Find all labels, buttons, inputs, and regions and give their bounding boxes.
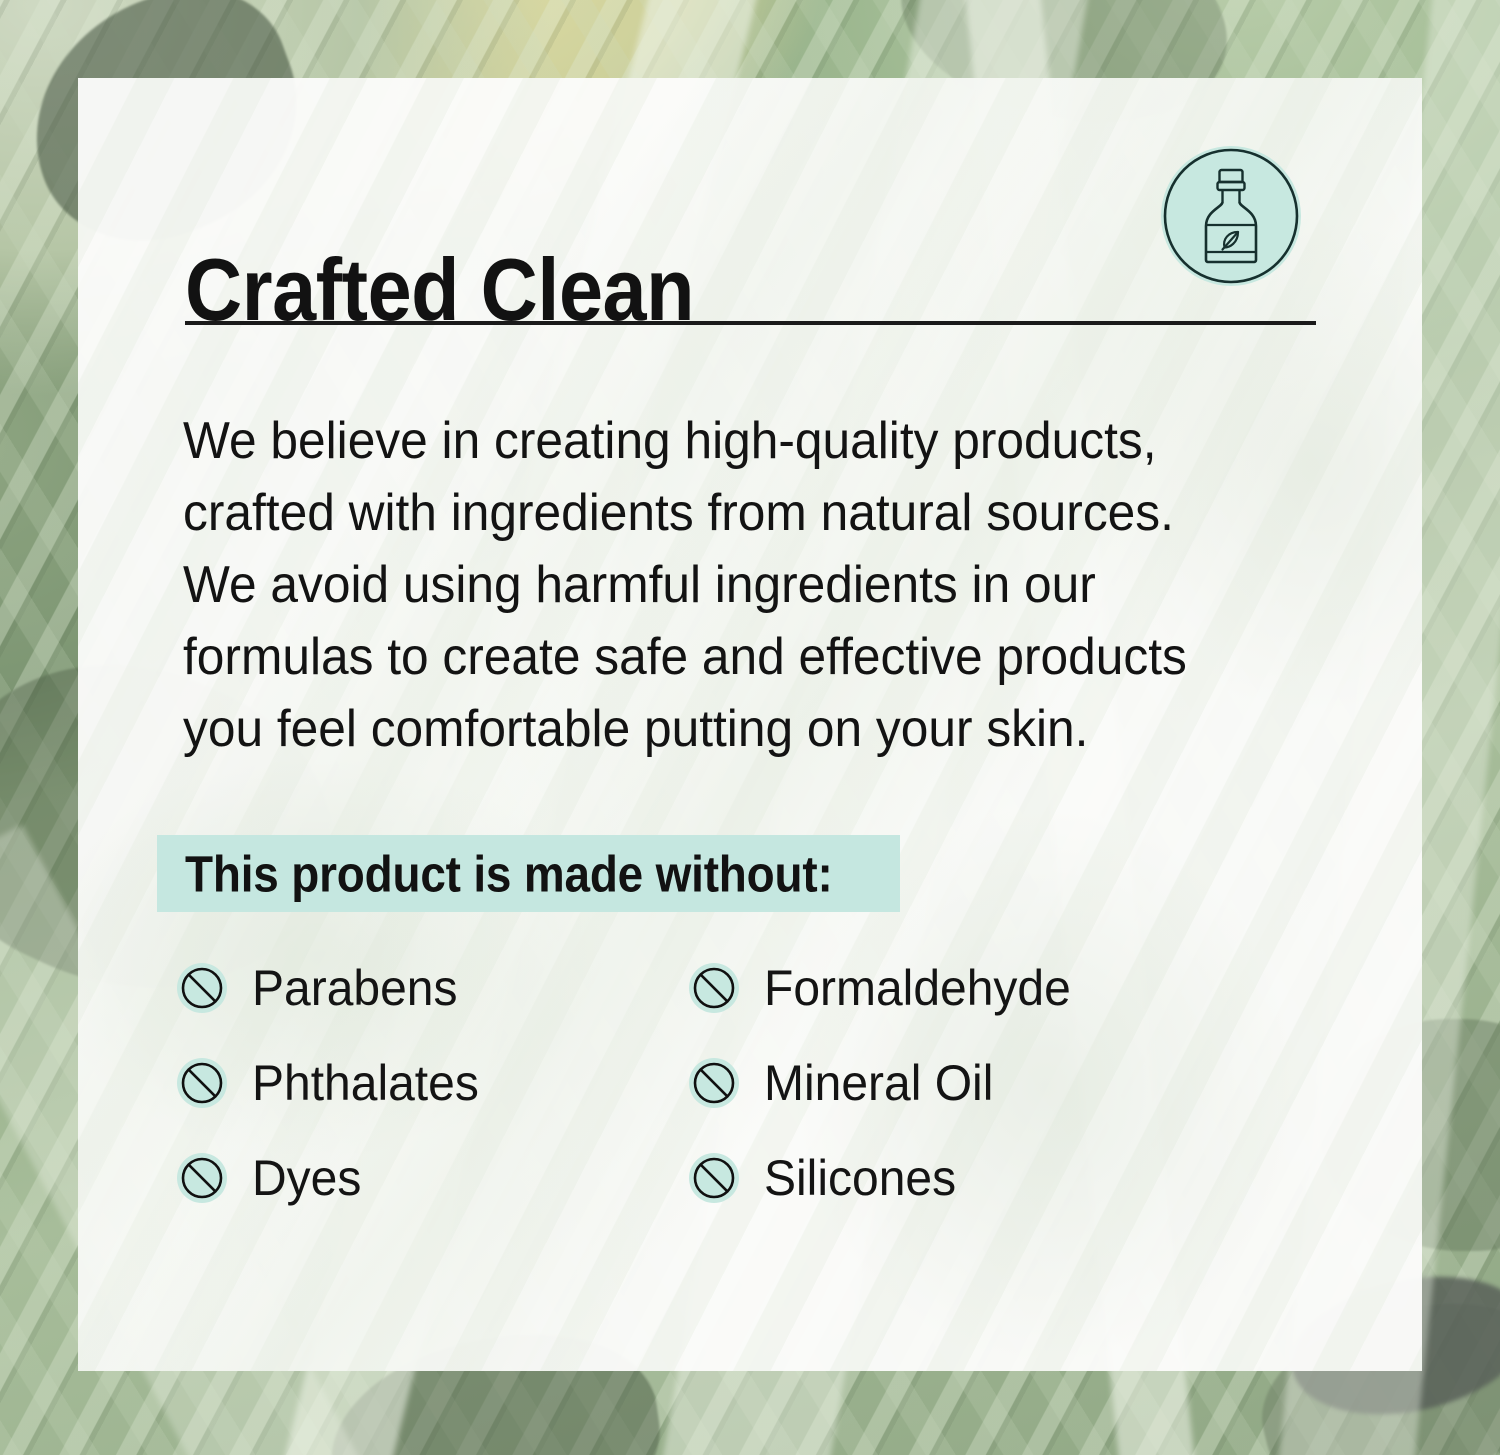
list-item: Formaldehyde	[688, 940, 1336, 1035]
body-paragraph: We believe in creating high-quality prod…	[183, 405, 1329, 765]
prohibited-icon	[176, 962, 228, 1014]
subheading-text: This product is made without:	[185, 844, 833, 903]
body-line: crafted with ingredients from natural so…	[183, 477, 1329, 549]
prohibited-icon	[688, 962, 740, 1014]
list-item-label: Phthalates	[252, 1054, 479, 1112]
prohibited-icon	[688, 1152, 740, 1204]
list-item-label: Mineral Oil	[764, 1054, 993, 1112]
crafted-clean-graphic: Crafted Clean	[0, 0, 1500, 1455]
list-item: Phthalates	[176, 1035, 688, 1130]
list-item-label: Dyes	[252, 1149, 361, 1207]
content-card: Crafted Clean	[78, 78, 1422, 1371]
body-line: you feel comfortable putting on your ski…	[183, 693, 1329, 765]
list-item-label: Formaldehyde	[764, 959, 1071, 1017]
list-item: Silicones	[688, 1130, 1336, 1225]
list-item-label: Parabens	[252, 959, 457, 1017]
prohibited-icon	[688, 1057, 740, 1109]
made-without-list: Parabens Formaldehyde	[176, 940, 1336, 1225]
prohibited-icon	[176, 1152, 228, 1204]
list-item-label: Silicones	[764, 1149, 956, 1207]
subheading-highlight-band: This product is made without:	[157, 835, 900, 912]
body-line: We avoid using harmful ingredients in ou…	[183, 549, 1329, 621]
header-divider	[185, 321, 1316, 325]
list-item: Parabens	[176, 940, 688, 1035]
body-line: formulas to create safe and effective pr…	[183, 621, 1329, 693]
bottle-with-leaf-icon	[1159, 144, 1303, 288]
body-line: We believe in creating high-quality prod…	[183, 405, 1329, 477]
list-item: Dyes	[176, 1130, 688, 1225]
list-item: Mineral Oil	[688, 1035, 1336, 1130]
prohibited-icon	[176, 1057, 228, 1109]
